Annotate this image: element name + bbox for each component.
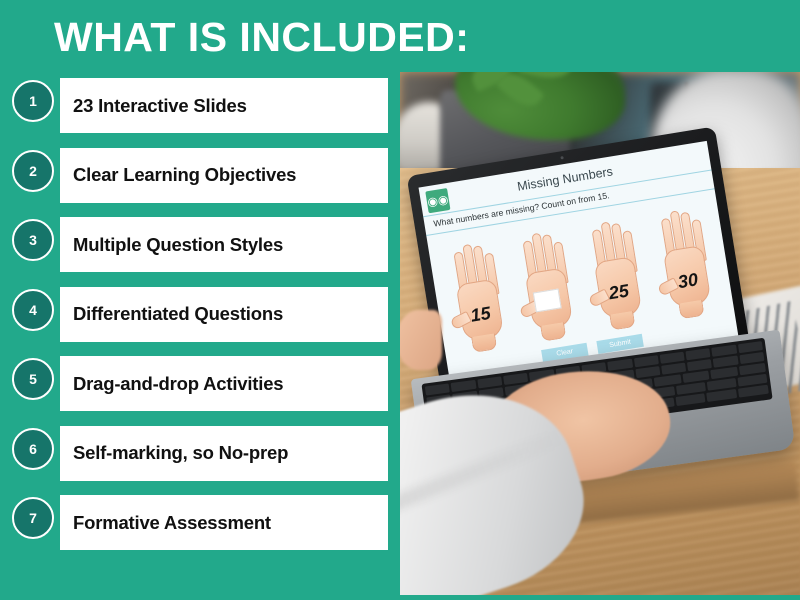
slide-canvas: WHAT IS INCLUDED: 23 Interactive Slides … xyxy=(0,0,800,600)
feature-card[interactable]: Formative Assessment xyxy=(60,495,388,550)
feature-number-badge: 5 xyxy=(12,358,54,400)
feature-label: Differentiated Questions xyxy=(60,303,283,325)
feature-card[interactable]: Self-marking, so No-prep xyxy=(60,426,388,481)
list-item[interactable]: Drag-and-drop Activities 5 xyxy=(0,356,400,411)
list-item[interactable]: 23 Interactive Slides 1 xyxy=(0,78,400,133)
feature-label: Multiple Question Styles xyxy=(60,234,283,256)
feature-card[interactable]: Differentiated Questions xyxy=(60,287,388,342)
drop-target-blank[interactable] xyxy=(533,289,562,313)
feature-number-badge: 2 xyxy=(12,150,54,192)
feature-label: Formative Assessment xyxy=(60,512,271,534)
list-item[interactable]: Multiple Question Styles 3 xyxy=(0,217,400,272)
feature-card[interactable]: Multiple Question Styles xyxy=(60,217,388,272)
page-title: WHAT IS INCLUDED: xyxy=(54,12,494,62)
feature-number-badge: 1 xyxy=(12,80,54,122)
list-item[interactable]: Formative Assessment 7 xyxy=(0,495,400,550)
feature-card[interactable]: 23 Interactive Slides xyxy=(60,78,388,133)
feature-label: Drag-and-drop Activities xyxy=(60,373,283,395)
webcam-icon xyxy=(560,156,563,159)
feature-label: 23 Interactive Slides xyxy=(60,95,247,117)
hand-graphic[interactable]: 30 xyxy=(647,198,721,310)
hand-graphic[interactable] xyxy=(508,220,582,332)
feature-label: Clear Learning Objectives xyxy=(60,164,296,186)
user-left-fingers xyxy=(400,310,442,370)
hand-graphic[interactable]: 25 xyxy=(578,209,652,321)
list-item[interactable]: Clear Learning Objectives 2 xyxy=(0,148,400,203)
feature-card[interactable]: Drag-and-drop Activities xyxy=(60,356,388,411)
feature-number-badge: 4 xyxy=(12,289,54,331)
feature-label: Self-marking, so No-prep xyxy=(60,442,288,464)
hand-graphic[interactable]: 15 xyxy=(439,232,513,344)
laptop-on-desk-photo: ◉◉ Missing Numbers What numbers are miss… xyxy=(400,72,800,595)
list-item[interactable]: Self-marking, so No-prep 6 xyxy=(0,426,400,481)
feature-list: 23 Interactive Slides 1 Clear Learning O… xyxy=(0,78,400,578)
feature-card[interactable]: Clear Learning Objectives xyxy=(60,148,388,203)
feature-number-badge: 6 xyxy=(12,428,54,470)
list-item[interactable]: Differentiated Questions 4 xyxy=(0,287,400,342)
feature-number-badge: 7 xyxy=(12,497,54,539)
feature-number-badge: 3 xyxy=(12,219,54,261)
